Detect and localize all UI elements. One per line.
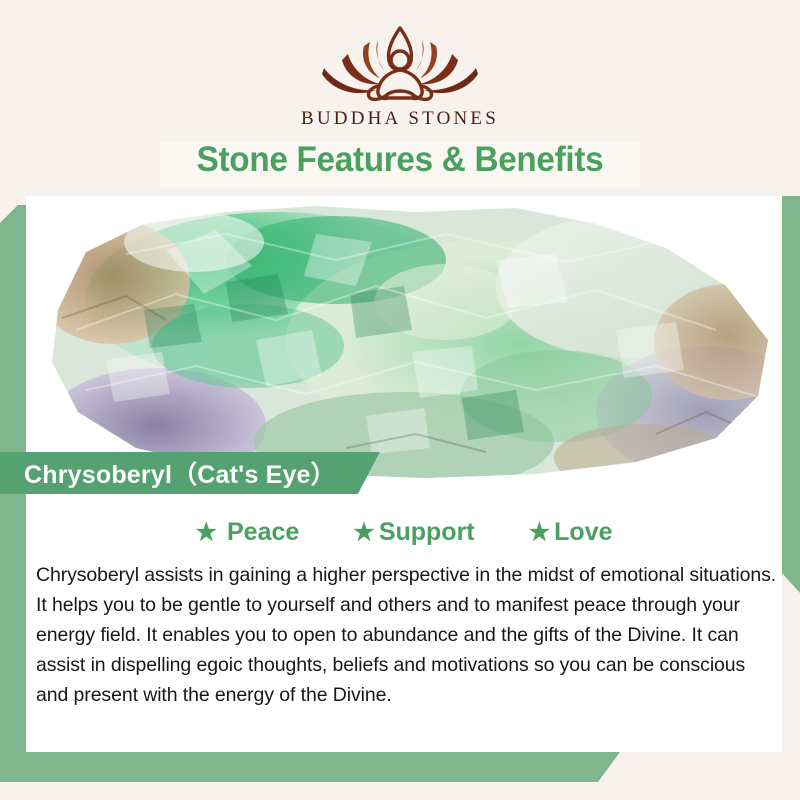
keyword-support: ★ Support [353,518,474,547]
keyword-peace: ★ Peace [195,518,299,547]
frame-right-bar [780,193,800,593]
keyword-love: ★ Love [529,518,613,547]
stone-name-banner: Chrysoberyl（Cat's Eye） [0,452,380,494]
keyword-row: ★ Peace ★ Support ★ Love [26,518,782,547]
stone-name-label: Chrysoberyl（Cat's Eye） [24,455,336,491]
stone-photo-container [26,196,782,496]
star-icon: ★ [529,521,551,545]
brand-logo: BUDDHA STONES [0,20,800,130]
star-icon: ★ [353,521,375,545]
keyword-label: Support [379,518,475,547]
card-header: BUDDHA STONES Stone Features & Benefits [0,0,800,196]
keyword-label: Peace [227,518,299,547]
stone-photo [26,196,782,496]
brand-name: BUDDHA STONES [0,108,800,130]
stone-info-card: BUDDHA STONES Stone Features & Benefits … [0,0,800,800]
lotus-meditation-logo-icon [308,20,492,104]
frame-bottom-bar [0,752,620,782]
keyword-label: Love [554,518,612,547]
star-icon: ★ [195,521,217,545]
stone-description: Chrysoberyl assists in gaining a higher … [36,560,778,710]
page-title: Stone Features & Benefits [20,140,780,180]
